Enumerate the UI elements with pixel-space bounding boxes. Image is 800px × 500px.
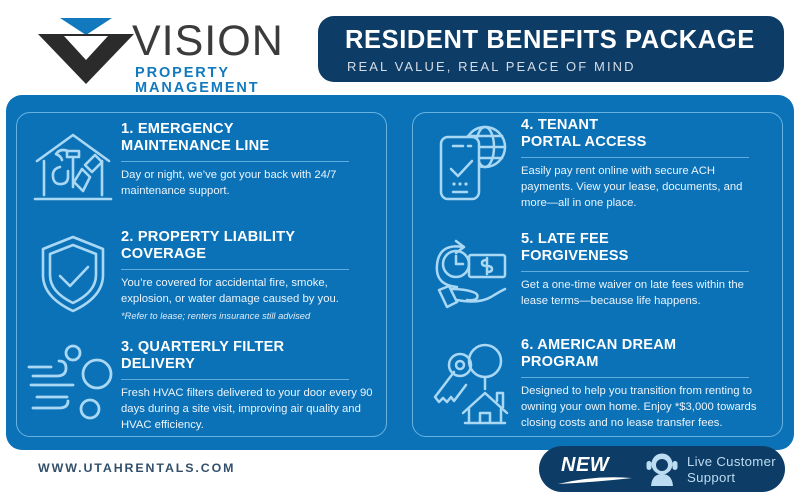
- benefit-text: 5. LATE FEE FORGIVENESS Get a one-time w…: [521, 231, 769, 310]
- benefit-note: *Refer to lease; renters insurance still…: [121, 310, 373, 322]
- benefit-text: 1. EMERGENCY MAINTENANCE LINE Day or nig…: [121, 121, 373, 200]
- page-title: RESIDENT BENEFITS PACKAGE: [345, 28, 755, 54]
- clock-money-hand-icon: [427, 233, 519, 319]
- benefit-heading: 4. TENANT PORTAL ACCESS: [521, 117, 769, 151]
- page-subtitle: REAL VALUE, REAL PEACE OF MIND: [347, 60, 636, 73]
- benefit-body: You’re covered for accidental fire, smok…: [121, 276, 373, 307]
- title-banner: RESIDENT BENEFITS PACKAGE REAL VALUE, RE…: [318, 16, 784, 82]
- live-support-label: Live Customer Support: [687, 454, 776, 486]
- headset-agent-icon: [645, 453, 679, 486]
- benefit-heading: 3. QUARTERLY FILTER DELIVERY: [121, 339, 373, 373]
- logo-inner-notch: [64, 36, 108, 60]
- new-label: NEW: [561, 455, 609, 475]
- benefits-panel-left: 1. EMERGENCY MAINTENANCE LINE Day or nig…: [16, 112, 387, 437]
- logo-tagline: PROPERTY MANAGEMENT: [135, 66, 313, 95]
- divider: [521, 271, 749, 272]
- swoosh-underline-icon: [557, 476, 633, 485]
- benefit-heading: 6. AMERICAN DREAM PROGRAM: [521, 337, 769, 371]
- benefit-body: Day or night, we’ve got your back with 2…: [121, 168, 373, 199]
- benefit-body: Fresh HVAC filters delivered to your doo…: [121, 386, 373, 433]
- house-tools-icon: [27, 123, 119, 209]
- benefit-text: 6. AMERICAN DREAM PROGRAM Designed to he…: [521, 337, 769, 431]
- airflow-filter-icon: [27, 341, 119, 427]
- phone-globe-icon: [427, 119, 519, 205]
- new-live-support-badge[interactable]: NEW Live Customer Support: [539, 446, 785, 492]
- benefit-body: Easily pay rent online with secure ACH p…: [521, 164, 769, 211]
- divider: [121, 161, 349, 162]
- benefit-heading: 5. LATE FEE FORGIVENESS: [521, 231, 769, 265]
- benefit-body: Get a one-time waiver on late fees withi…: [521, 278, 769, 309]
- vision-v-triangle-logo-icon: [38, 18, 134, 84]
- infographic-canvas: VISION PROPERTY MANAGEMENT RESIDENT BENE…: [0, 0, 800, 500]
- benefit-body: Designed to help you transition from ren…: [521, 384, 769, 431]
- shield-check-icon: [27, 231, 119, 317]
- logo-blue-bar: [60, 18, 112, 35]
- benefit-text: 4. TENANT PORTAL ACCESS Easily pay rent …: [521, 117, 769, 211]
- benefits-panel-right: 4. TENANT PORTAL ACCESS Easily pay rent …: [412, 112, 783, 437]
- benefit-text: 2. PROPERTY LIABILITY COVERAGE You’re co…: [121, 229, 373, 322]
- benefit-heading: 1. EMERGENCY MAINTENANCE LINE: [121, 121, 373, 155]
- logo-wordmark: VISION: [132, 20, 284, 63]
- brand-logo: VISION PROPERTY MANAGEMENT: [38, 14, 313, 82]
- header: VISION PROPERTY MANAGEMENT RESIDENT BENE…: [0, 0, 800, 95]
- keys-house-icon: [427, 339, 519, 425]
- divider: [521, 157, 749, 158]
- divider: [121, 379, 349, 380]
- divider: [121, 269, 349, 270]
- divider: [521, 377, 749, 378]
- benefit-heading: 2. PROPERTY LIABILITY COVERAGE: [121, 229, 373, 263]
- footer-website-url[interactable]: WWW.UTAHRENTALS.COM: [38, 462, 235, 474]
- benefit-text: 3. QUARTERLY FILTER DELIVERY Fresh HVAC …: [121, 339, 373, 433]
